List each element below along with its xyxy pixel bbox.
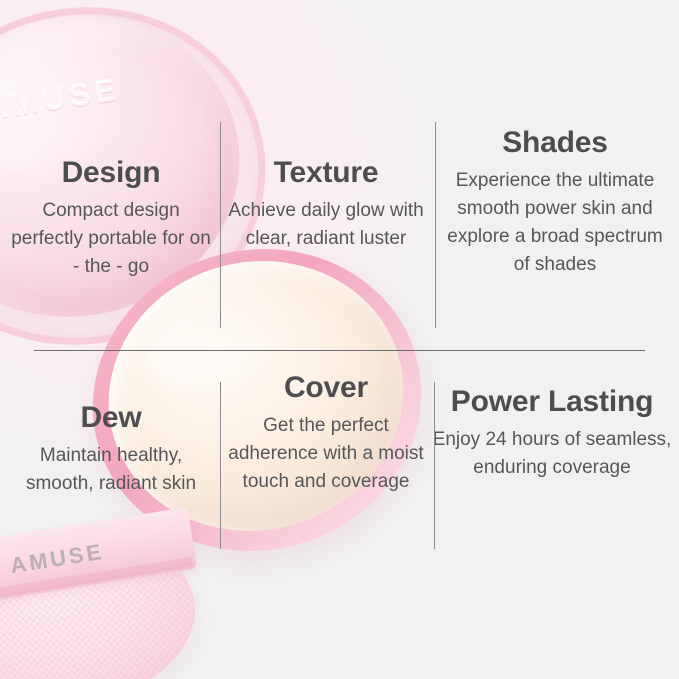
- divider-vertical-bottom-left: [220, 382, 221, 549]
- feature-description-texture: Achieve daily glow with clear, radiant l…: [228, 197, 424, 253]
- feature-title-design: Design: [62, 157, 161, 189]
- feature-cell-power-lasting: Power Lasting Enjoy 24 hours of seamless…: [432, 386, 672, 482]
- divider-vertical-top-right: [435, 122, 436, 328]
- feature-cell-design: Design Compact design perfectly portable…: [6, 157, 216, 281]
- feature-title-cover: Cover: [284, 372, 368, 404]
- divider-horizontal-center: [34, 350, 645, 351]
- feature-cell-texture: Texture Achieve daily glow with clear, r…: [228, 157, 424, 253]
- feature-description-shades: Experience the ultimate smooth power ski…: [442, 167, 668, 279]
- feature-title-dew: Dew: [80, 402, 141, 434]
- feature-description-cover: Get the perfect adherence with a moist t…: [228, 412, 424, 496]
- feature-description-design: Compact design perfectly portable for on…: [6, 197, 216, 281]
- feature-cell-dew: Dew Maintain healthy, smooth, radiant sk…: [6, 402, 216, 498]
- feature-cell-shades: Shades Experience the ultimate smooth po…: [442, 127, 668, 279]
- feature-title-power-lasting: Power Lasting: [451, 386, 653, 418]
- feature-description-dew: Maintain healthy, smooth, radiant skin: [6, 442, 216, 498]
- feature-cell-cover: Cover Get the perfect adherence with a m…: [228, 372, 424, 496]
- divider-vertical-top-left: [220, 122, 221, 328]
- feature-description-power-lasting: Enjoy 24 hours of seamless, enduring cov…: [432, 426, 672, 482]
- product-feature-graphic: AMUSE AMUSE Design Compact design perfec…: [0, 0, 679, 679]
- divider-vertical-bottom-right: [434, 382, 435, 549]
- feature-grid: Design Compact design perfectly portable…: [0, 0, 679, 679]
- feature-title-shades: Shades: [502, 127, 608, 159]
- feature-title-texture: Texture: [274, 157, 379, 189]
